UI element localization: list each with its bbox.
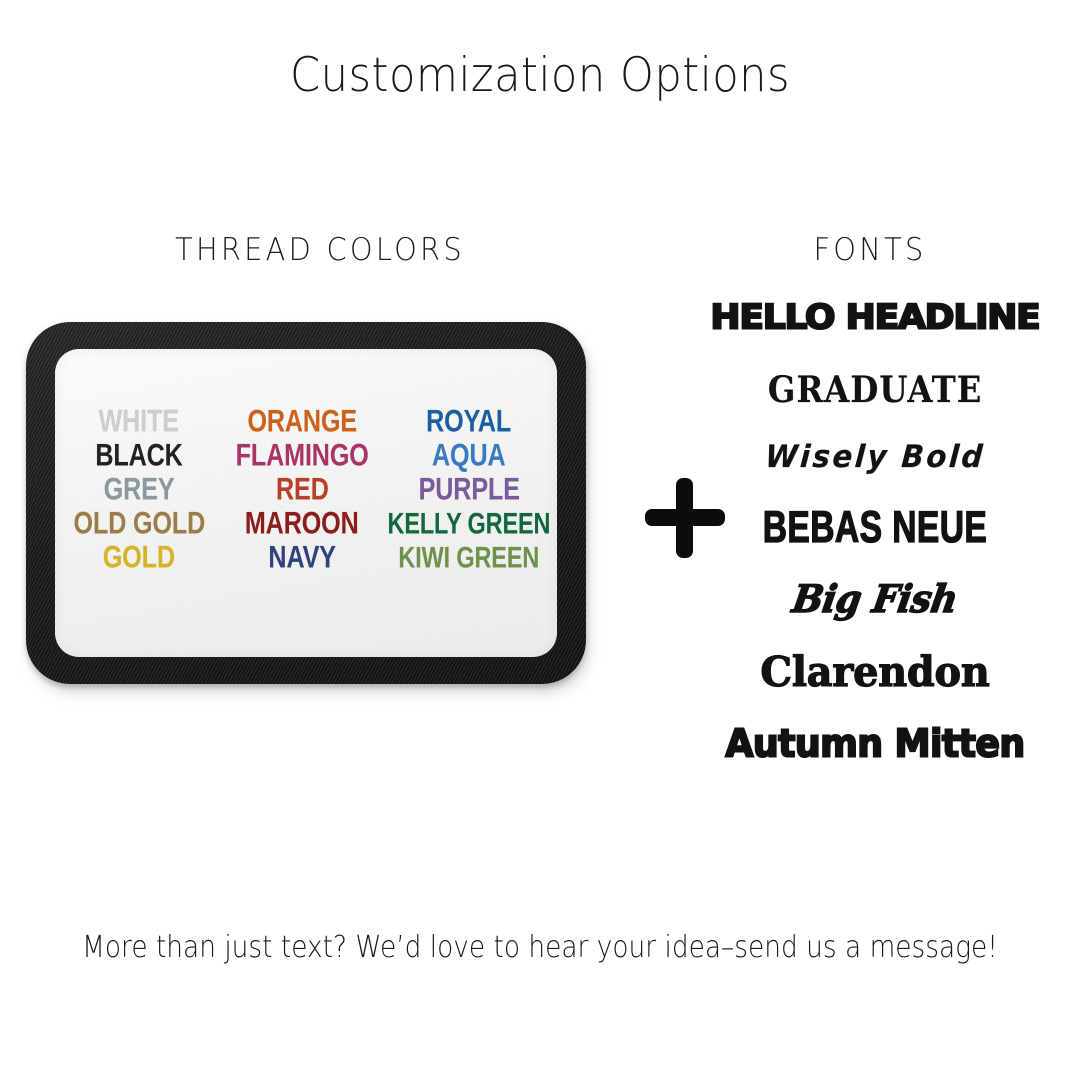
fonts-heading: FONTS <box>712 232 1028 268</box>
font-sample-clarendon: Clarendon <box>705 652 1045 693</box>
thread-color-grey: GREY <box>104 472 175 508</box>
thread-color-maroon: MAROON <box>245 506 359 542</box>
thread-color-gold: GOLD <box>103 540 175 576</box>
font-sample-wisely-bold: Wisely Bold <box>708 442 1043 473</box>
thread-color-kiwi-green: KIWI GREEN <box>399 540 540 576</box>
patch-face: WHITE BLACK GREY OLD GOLD GOLD ORANGE FL… <box>55 349 557 657</box>
font-sample-bebas-neue: BEBAS NEUE <box>732 505 1019 549</box>
thread-color-column-2: ORANGE FLAMINGO RED MAROON NAVY <box>223 405 381 575</box>
customization-options-page: Customization Options THREAD COLORS FONT… <box>0 0 1080 1080</box>
thread-color-flamingo: FLAMINGO <box>235 438 368 474</box>
footer-note: More than just text? We’d love to hear y… <box>65 930 1015 965</box>
plus-icon-vertical-bar <box>676 478 693 558</box>
thread-color-red: RED <box>276 472 329 508</box>
thread-colors-heading: THREAD COLORS <box>60 232 581 268</box>
thread-color-column-3: ROYAL AQUA PURPLE KELLY GREEN KIWI GREEN <box>381 405 557 575</box>
thread-colors-patch: WHITE BLACK GREY OLD GOLD GOLD ORANGE FL… <box>26 322 594 694</box>
thread-color-aqua: AQUA <box>432 438 506 474</box>
font-sample-autumn-mitten: Autumn Mitten <box>704 724 1047 762</box>
thread-color-purple: PURPLE <box>418 472 519 508</box>
font-sample-big-fish: Big Fish <box>706 580 1045 618</box>
thread-color-white: WHITE <box>99 404 179 440</box>
thread-color-orange: ORANGE <box>247 404 357 440</box>
font-sample-hello-headline: HELLO HEADLINE <box>700 301 1050 335</box>
thread-color-old-gold: OLD GOLD <box>73 506 205 542</box>
thread-color-column-1: WHITE BLACK GREY OLD GOLD GOLD <box>55 405 223 575</box>
fonts-list: HELLO HEADLINE GRADUATE Wisely Bold BEBA… <box>700 300 1050 762</box>
page-title: Customization Options <box>43 48 1037 103</box>
thread-color-navy: NAVY <box>268 540 335 576</box>
patch-border: WHITE BLACK GREY OLD GOLD GOLD ORANGE FL… <box>26 322 586 684</box>
thread-color-royal: ROYAL <box>426 404 511 440</box>
font-sample-graduate: GRADUATE <box>718 372 1033 409</box>
thread-color-black: BLACK <box>95 438 182 474</box>
thread-color-kelly-green: KELLY GREEN <box>388 506 551 542</box>
thread-color-grid: WHITE BLACK GREY OLD GOLD GOLD ORANGE FL… <box>55 405 557 575</box>
